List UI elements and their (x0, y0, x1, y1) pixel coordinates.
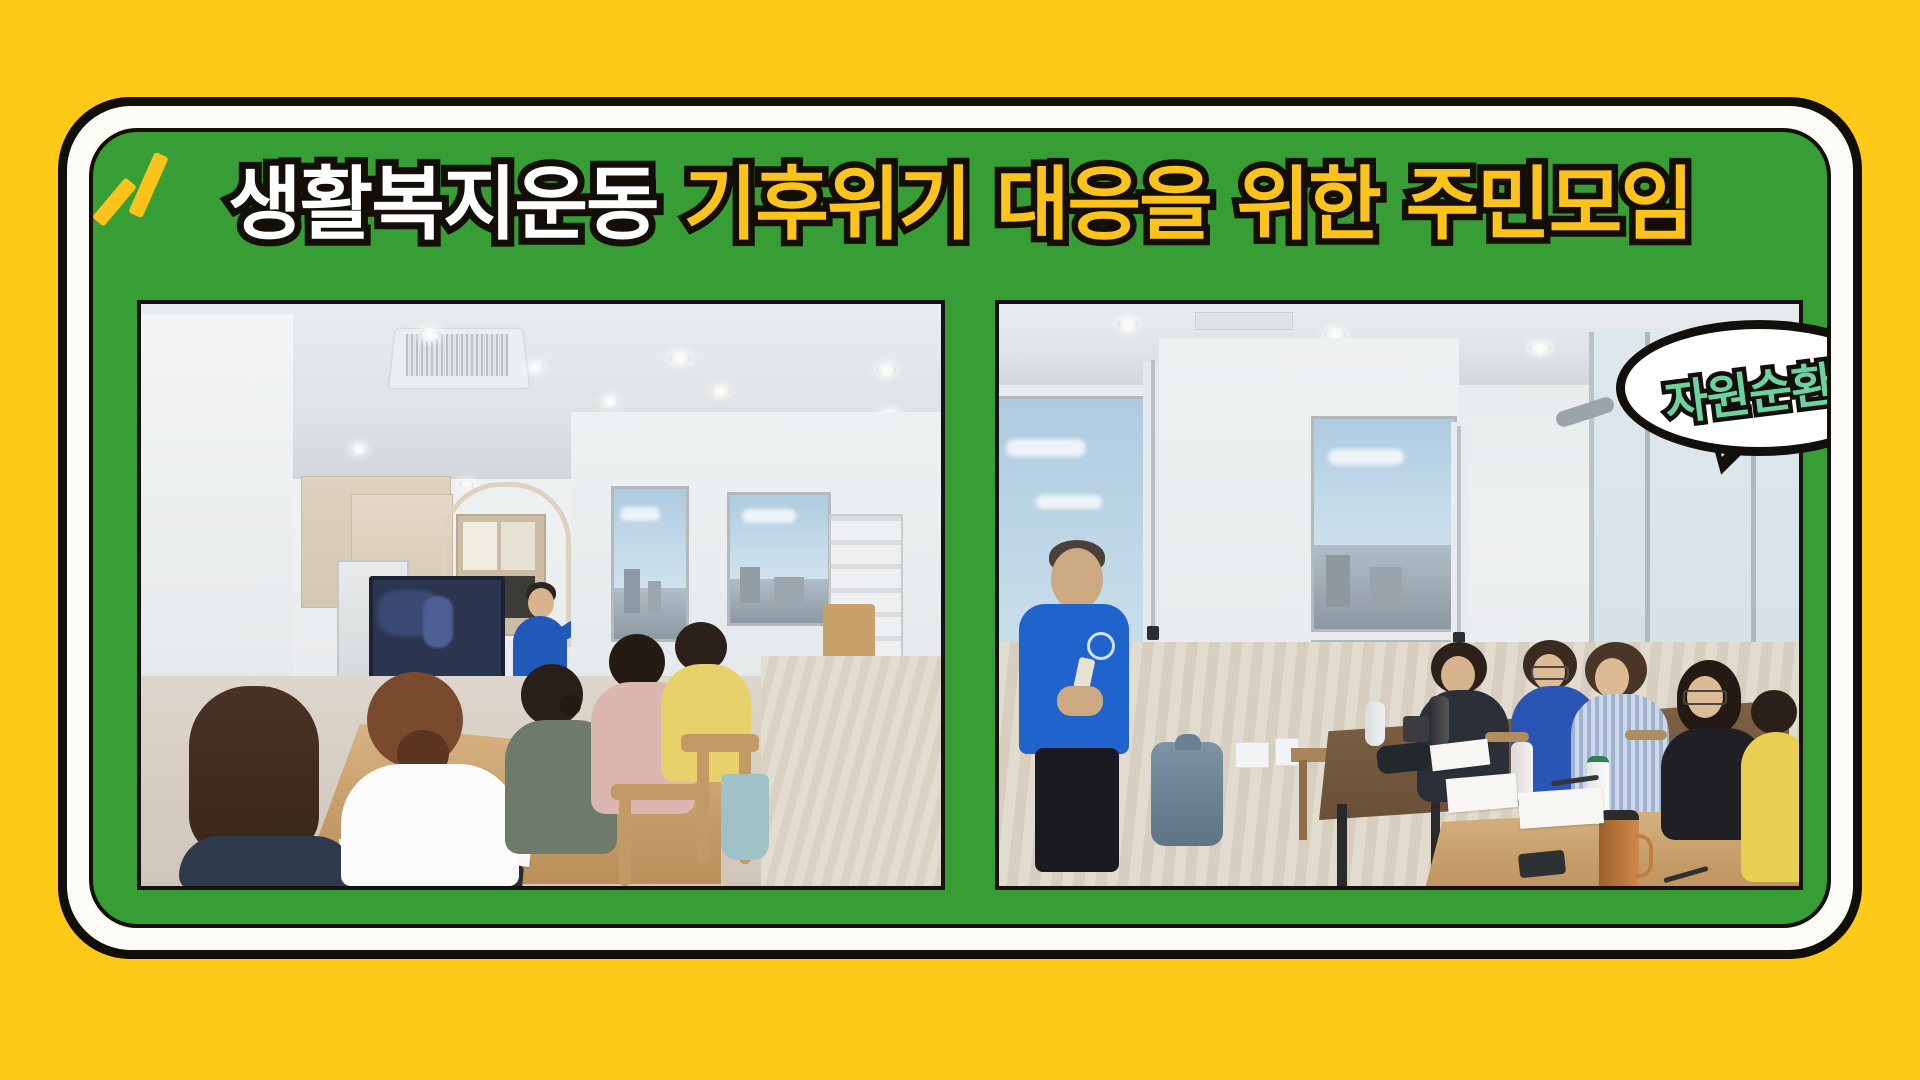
photo-left (137, 300, 945, 890)
poster-title: 생활복지운동 기후위기 대응을 위한 주민모임 (93, 150, 1827, 260)
title-lead-text: 생활복지운동 (228, 165, 658, 245)
card-green-panel: 생활복지운동 기후위기 대응을 위한 주민모임 (93, 132, 1827, 924)
card-inner-black-border: 생활복지운동 기후위기 대응을 위한 주민모임 (89, 128, 1831, 928)
participant-left-2 (341, 672, 521, 886)
title-main-text: 기후위기 대응을 위한 주민모임 (684, 165, 1692, 245)
participant-right-5 (1741, 690, 1799, 880)
speaker-right (1013, 540, 1143, 870)
poster-canvas: 생활복지운동 기후위기 대응을 위한 주민모임 (0, 0, 1920, 1080)
poster-card-frame: 생활복지운동 기후위기 대응을 위한 주민모임 (58, 97, 1862, 959)
speech-bubble-body: 자원순환! (1616, 320, 1827, 456)
speech-bubble: 자원순환! (1616, 320, 1827, 480)
photo-left-scene (141, 304, 941, 886)
speech-bubble-text: 자원순환! (1661, 342, 1827, 434)
card-white-border: 생활복지운동 기후위기 대응을 위한 주민모임 (67, 106, 1853, 950)
